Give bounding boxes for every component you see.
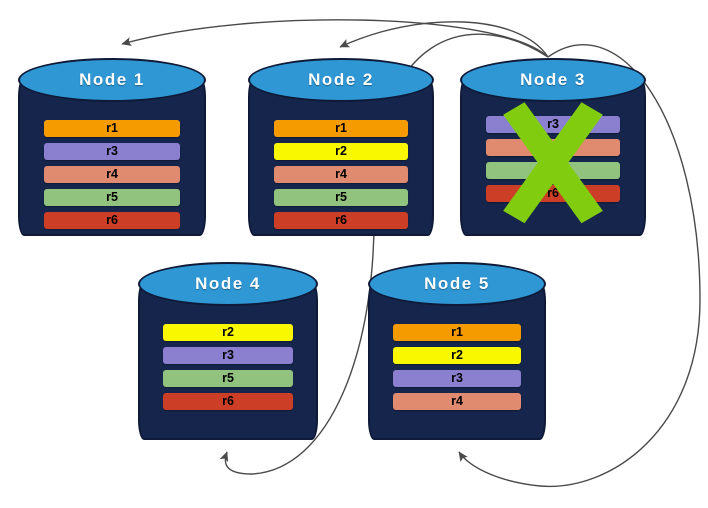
replica-list: r2r3r5r6	[138, 324, 318, 410]
replica-r3[interactable]: r3	[44, 143, 179, 160]
replica-r5[interactable]: r5	[44, 189, 179, 206]
replica-list: r1r3r4r5r6	[18, 120, 206, 229]
replica-r3[interactable]: r3	[486, 116, 620, 133]
replica-r4[interactable]: r4	[393, 393, 521, 410]
replica-r5[interactable]: r5	[274, 189, 408, 206]
node-title: Node 1	[18, 66, 206, 94]
replica-r3[interactable]: r3	[393, 370, 521, 387]
diagram-canvas: Node 1r1r3r4r5r6Node 2r1r2r4r5r6Node 3r3…	[0, 0, 708, 508]
replica-r1[interactable]: r1	[274, 120, 408, 137]
replica-r6[interactable]: r6	[163, 393, 293, 410]
replica-r2[interactable]: r2	[274, 143, 408, 160]
replica-r2[interactable]: r2	[163, 324, 293, 341]
replica-r1[interactable]: r1	[393, 324, 521, 341]
node-1[interactable]: Node 1r1r3r4r5r6	[18, 58, 206, 236]
node-3[interactable]: Node 3r3r4r5r6	[460, 58, 646, 236]
replica-list: r3r4r5r6	[460, 116, 646, 202]
node-5[interactable]: Node 5r1r2r3r4	[368, 262, 546, 440]
replica-r6[interactable]: r6	[486, 185, 620, 202]
node-title: Node 5	[368, 270, 546, 298]
replica-r4[interactable]: r4	[486, 139, 620, 156]
replica-r6[interactable]: r6	[44, 212, 179, 229]
replica-r3[interactable]: r3	[163, 347, 293, 364]
replica-list: r1r2r3r4	[368, 324, 546, 410]
edge-node3-to-node2	[340, 22, 548, 57]
node-title: Node 4	[138, 270, 318, 298]
replica-list: r1r2r4r5r6	[248, 120, 434, 229]
edge-node3-to-node1	[122, 20, 548, 57]
node-2[interactable]: Node 2r1r2r4r5r6	[248, 58, 434, 236]
replica-r4[interactable]: r4	[274, 166, 408, 183]
replica-r4[interactable]: r4	[44, 166, 179, 183]
node-4[interactable]: Node 4r2r3r5r6	[138, 262, 318, 440]
node-title: Node 2	[248, 66, 434, 94]
replica-r1[interactable]: r1	[44, 120, 179, 137]
replica-r5[interactable]: r5	[163, 370, 293, 387]
replica-r5[interactable]: r5	[486, 162, 620, 179]
replica-r6[interactable]: r6	[274, 212, 408, 229]
node-title: Node 3	[460, 66, 646, 94]
replica-r2[interactable]: r2	[393, 347, 521, 364]
